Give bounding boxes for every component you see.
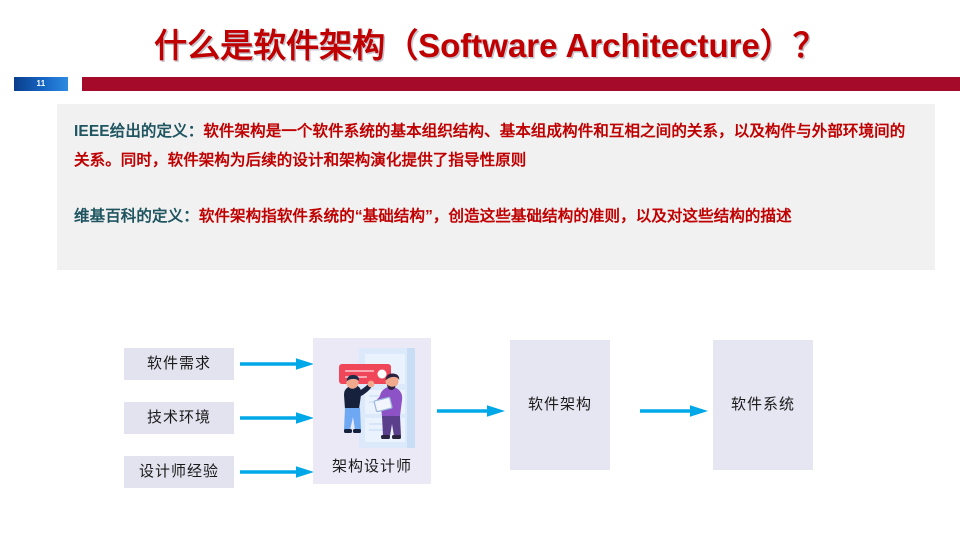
definition-block-ieee: IEEE给出的定义：软件架构是一个软件系统的基本组织结构、基本组成构件和互相之间… <box>74 117 920 175</box>
arrow-environment-to-designer-icon <box>240 411 314 425</box>
architects-illustration <box>319 344 425 456</box>
diagram-node-designer-experience: 设计师经验 <box>124 456 234 488</box>
definition-block-wikipedia: 维基百科的定义：软件架构指软件系统的“基础结构”，创造这些基础结构的准则，以及对… <box>74 202 920 231</box>
arrow-architecture-to-system-icon <box>640 404 708 418</box>
diagram-node-technical-environment: 技术环境 <box>124 402 234 434</box>
diagram-node-software-requirement: 软件需求 <box>124 348 234 380</box>
page-title: 什么是软件架构（Software Architecture）？ <box>60 20 920 72</box>
diagram-node-software-system: 软件系统 <box>713 340 813 470</box>
definition-panel: IEEE给出的定义：软件架构是一个软件系统的基本组织结构、基本组成构件和互相之间… <box>57 104 935 270</box>
definition-body-wikipedia: 软件架构指软件系统的“基础结构”，创造这些基础结构的准则，以及对这些结构的描述 <box>199 208 792 225</box>
arrow-designer-to-architecture-icon <box>437 404 505 418</box>
arrow-experience-to-designer-icon <box>240 465 314 479</box>
page-number-label: 11 <box>14 77 68 91</box>
page-number-badge: 11 <box>14 77 68 91</box>
header-accent-bar <box>82 77 960 91</box>
definition-text-wikipedia: 维基百科的定义：软件架构指软件系统的“基础结构”，创造这些基础结构的准则，以及对… <box>74 202 920 231</box>
definition-text-ieee: IEEE给出的定义：软件架构是一个软件系统的基本组织结构、基本组成构件和互相之间… <box>74 117 920 175</box>
diagram-node-software-architecture: 软件架构 <box>510 340 610 470</box>
architecture-flow-diagram: 软件需求 技术环境 设计师经验 <box>0 330 960 505</box>
definition-label-ieee: IEEE给出的定义： <box>74 123 203 140</box>
slide-canvas: 什么是软件架构（Software Architecture）？ 11 IEEE给… <box>0 0 960 540</box>
diagram-node-architect: 架构设计师 <box>313 338 431 484</box>
diagram-node-architect-label: 架构设计师 <box>313 455 431 476</box>
definition-label-wikipedia: 维基百科的定义： <box>74 208 199 225</box>
arrow-requirement-to-designer-icon <box>240 357 314 371</box>
